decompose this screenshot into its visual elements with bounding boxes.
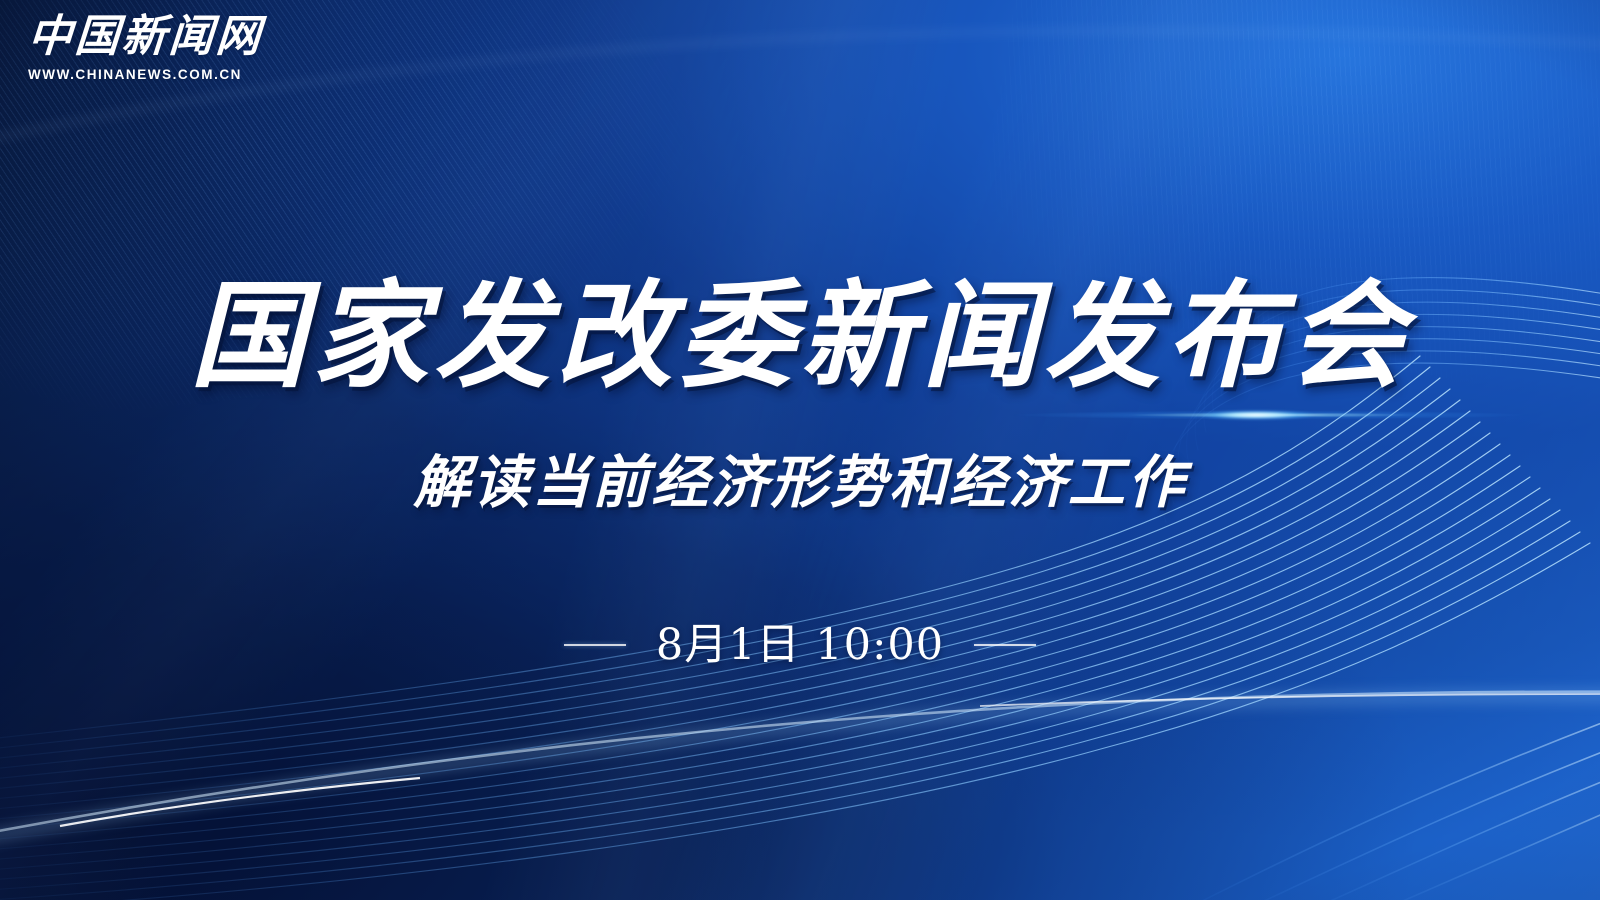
schedule-datetime: 8月1日 10:00 — [656, 616, 944, 674]
rule-right — [974, 644, 1036, 646]
poster-canvas: 中国新闻网 WWW.CHINANEWS.COM.CN 国家发改委新闻发布会 解读… — [0, 0, 1600, 900]
rule-left — [564, 644, 626, 646]
page-title: 国家发改委新闻发布会 — [0, 268, 1600, 406]
glowing-light-arc — [0, 692, 1600, 846]
page-subtitle: 解读当前经济形势和经济工作 — [0, 447, 1600, 519]
lens-flare-streak — [1010, 410, 1530, 419]
site-logo-url: WWW.CHINANEWS.COM.CN — [28, 67, 263, 82]
site-logo[interactable]: 中国新闻网 WWW.CHINANEWS.COM.CN — [28, 12, 263, 82]
schedule-row: 8月1日 10:00 — [0, 616, 1600, 674]
site-logo-name: 中国新闻网 — [26, 12, 264, 62]
lens-flare-core — [1196, 410, 1316, 420]
